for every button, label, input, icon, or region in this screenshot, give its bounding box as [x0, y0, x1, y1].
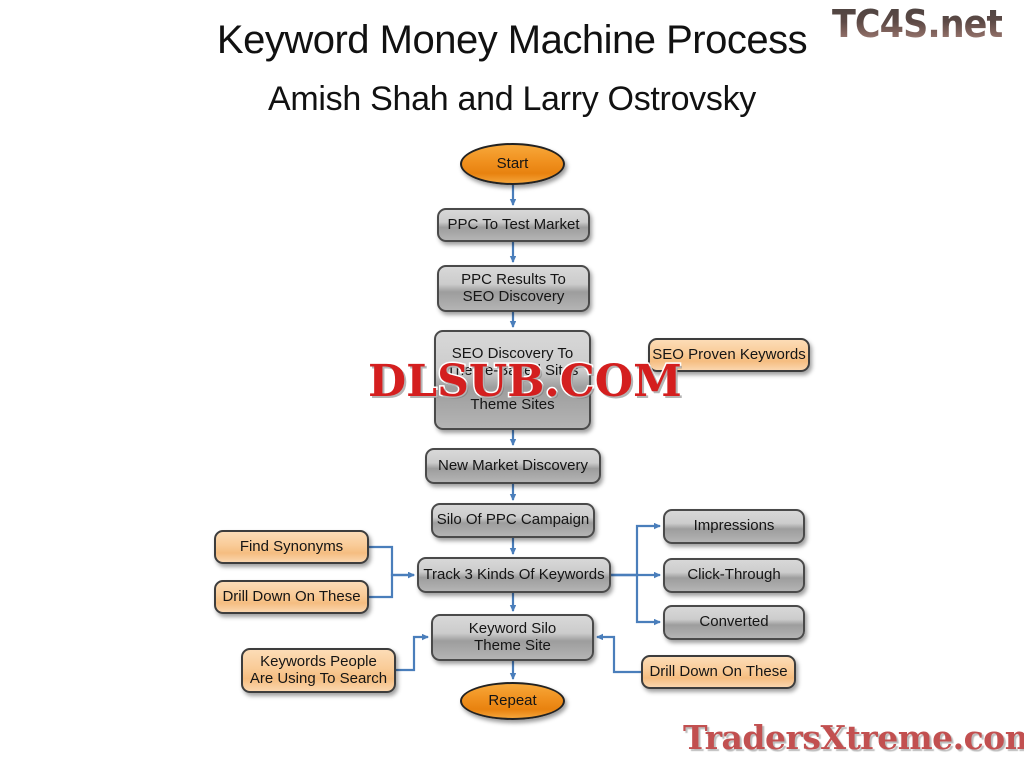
node-silo-of-ppc-campaign[interactable]: Silo Of PPC Campaign [431, 503, 595, 538]
node-converted[interactable]: Converted [663, 605, 805, 640]
flowchart-canvas: Keyword Money Machine Process Amish Shah… [0, 0, 1024, 768]
edge-track3-to-converted [611, 575, 660, 622]
node-drill-down-on-these-left[interactable]: Drill Down On These [214, 580, 369, 614]
node-track-3-kinds-of-keywords[interactable]: Track 3 Kinds Of Keywords [417, 557, 611, 593]
node-start[interactable]: Start [460, 143, 565, 185]
edge-drill-right-to-keyword-silo [597, 637, 641, 672]
node-click-through[interactable]: Click-Through [663, 558, 805, 593]
node-ppc-to-test-market[interactable]: PPC To Test Market [437, 208, 590, 242]
node-keywords-people-are-using-to-search[interactable]: Keywords People Are Using To Search [241, 648, 396, 693]
node-find-synonyms[interactable]: Find Synonyms [214, 530, 369, 564]
edge-drill-left-to-track3 [369, 575, 414, 597]
node-new-market-discovery[interactable]: New Market Discovery [425, 448, 601, 484]
node-seo-proven-keywords[interactable]: SEO Proven Keywords [648, 338, 810, 372]
edge-kw-people-to-keyword-silo [396, 637, 428, 670]
edge-track3-to-impressions [611, 526, 660, 575]
node-seo-discovery-to-theme-based-sites[interactable]: SEO Discovery To Theme-Based Sites Theme… [434, 330, 591, 430]
node-repeat[interactable]: Repeat [460, 682, 565, 720]
node-drill-down-on-these-right[interactable]: Drill Down On These [641, 655, 796, 689]
node-ppc-results-to-seo-discovery[interactable]: PPC Results To SEO Discovery [437, 265, 590, 312]
node-keyword-silo-theme-site[interactable]: Keyword Silo Theme Site [431, 614, 594, 661]
edge-find-synonyms-to-track3 [369, 547, 414, 575]
node-impressions[interactable]: Impressions [663, 509, 805, 544]
